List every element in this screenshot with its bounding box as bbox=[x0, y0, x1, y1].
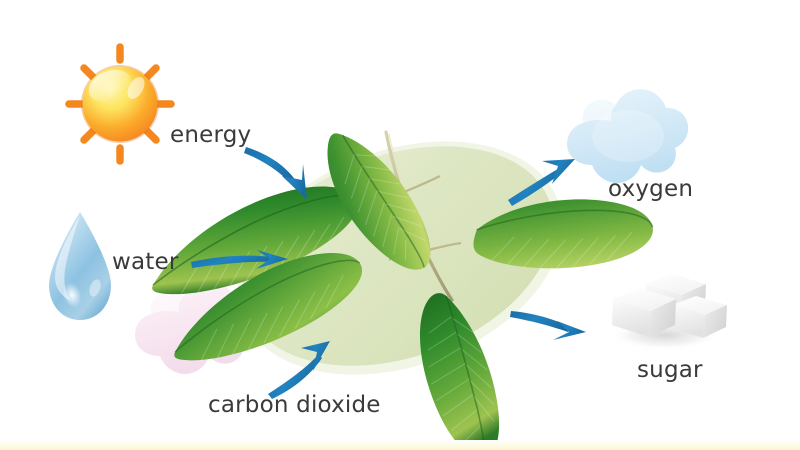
sun-icon bbox=[69, 47, 171, 161]
label-energy: energy bbox=[170, 124, 251, 147]
oxygen-cloud-icon bbox=[567, 89, 688, 183]
photosynthesis-diagram: energy water carbon dioxide oxygen sugar bbox=[0, 0, 800, 450]
label-carbon-dioxide: carbon dioxide bbox=[208, 394, 381, 417]
label-oxygen: oxygen bbox=[608, 178, 693, 201]
sugar-cubes-icon bbox=[609, 274, 727, 350]
water-drop-icon bbox=[49, 212, 112, 320]
label-water: water bbox=[112, 251, 179, 274]
arrow-leaf-to-sugar bbox=[510, 311, 586, 340]
bottom-accent-band bbox=[0, 440, 800, 450]
label-sugar: sugar bbox=[637, 359, 703, 382]
